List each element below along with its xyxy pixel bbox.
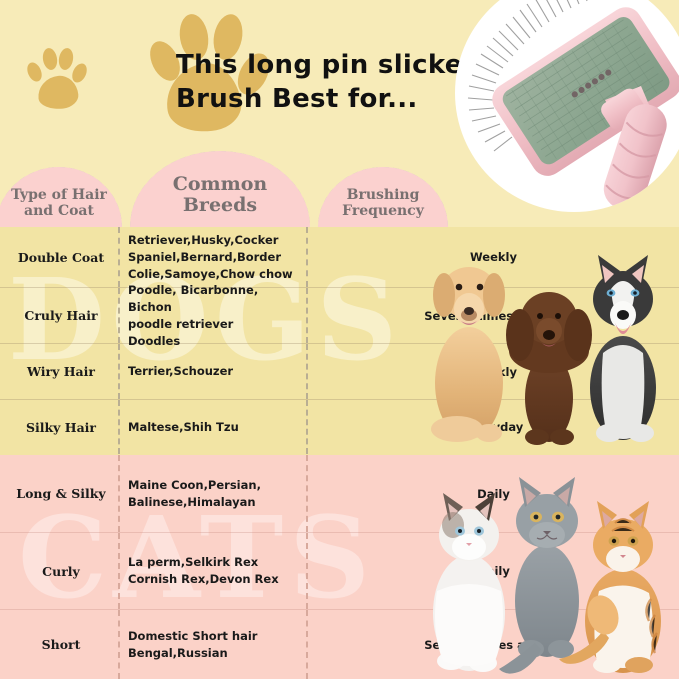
column-header-label: Type of Hair and Coat [11,174,107,219]
breeds-line: Bengal,Russian [128,645,300,662]
breeds-line: Terrier,Schouzer [128,363,300,380]
column-header-line1: Common [173,173,268,195]
column-header-brushing-frequency: Brushing Frequency [318,167,448,227]
cell-hair-type: Wiry Hair [0,364,118,379]
table-row: Silky Hair Maltese,Shih Tzu Everyday [0,399,679,454]
column-header-common-breeds: Common Breeds [130,151,310,227]
paw-print-icon [26,44,90,114]
breeds-line: Poodle, Bicarbonne, Bichon [128,282,300,316]
paw-toe [24,60,44,84]
frequency-text: Daily [401,487,587,501]
breeds-line: La perm,Selkirk Rex [128,554,300,571]
cell-hair-type: Double Coat [0,250,118,265]
column-header-label: Brushing Frequency [342,174,424,219]
cell-breeds: Maine Coon,Persian, Balinese,Himalayan [118,455,306,532]
column-header-type-of-hair: Type of Hair and Coat [0,167,122,227]
grooming-infographic: This long pin slicker Brush Best for... [0,0,679,679]
frequency-text: Several times a week [401,309,587,323]
cell-breeds: Poodle, Bicarbonne, Bichon poodle retrie… [118,288,306,343]
cell-hair-type: Curly [0,564,118,579]
cell-hair-type: Long & Silky [0,486,118,501]
frequency-text: Everyday [401,420,587,434]
header-banner: This long pin slicker Brush Best for... [0,0,679,160]
section-dogs: DOGS [0,227,679,455]
breeds-line: Retriever,Husky,Cocker [128,232,300,249]
breeds-line: Domestic Short hair [128,628,300,645]
column-header-label: Common Breeds [173,162,268,217]
breeds-line: Spaniel,Bernard,Border [128,249,300,266]
cell-frequency: Daily [306,533,679,609]
column-header-line1: Brushing [347,187,420,203]
column-header-line2: and Coat [24,203,94,219]
frequency-text: Weekly [401,365,587,379]
table-column-headers: Type of Hair and Coat Common Breeds Brus… [0,152,679,227]
cell-breeds: Retriever,Husky,Cocker Spaniel,Bernard,B… [118,227,306,287]
cell-breeds: Terrier,Schouzer [118,344,306,399]
table-row: Curly La perm,Selkirk Rex Cornish Rex,De… [0,532,679,609]
paw-toe [41,47,59,71]
cell-frequency: Everyday [306,400,679,454]
breeds-line: Cornish Rex,Devon Rex [128,571,300,588]
frequency-text: Several times a week [401,638,587,652]
column-header-line2: Frequency [342,203,424,219]
cell-frequency: Weekly [306,344,679,399]
breeds-line: Maine Coon,Persian, [128,477,300,494]
table-row: Short Domestic Short hair Bengal,Russian… [0,609,679,679]
cell-breeds: La perm,Selkirk Rex Cornish Rex,Devon Re… [118,533,306,609]
cell-breeds: Domestic Short hair Bengal,Russian [118,610,306,679]
section-cats: CATS [0,455,679,679]
frequency-text: Daily [401,564,587,578]
breeds-line: poodle retriever [128,316,300,333]
cell-frequency: Several times a week [306,288,679,343]
cell-hair-type: Silky Hair [0,420,118,435]
cell-breeds: Maltese,Shih Tzu [118,400,306,454]
cell-hair-type: Short [0,637,118,652]
cell-frequency: Weekly [306,227,679,287]
cell-frequency: Several times a week [306,610,679,679]
column-header-line1: Type of Hair [11,187,107,203]
table-row: Wiry Hair Terrier,Schouzer Weekly [0,343,679,399]
breeds-line: Balinese,Himalayan [128,494,300,511]
cell-hair-type: Cruly Hair [0,308,118,323]
grooming-table: DOGS [0,227,679,679]
frequency-text: Weekly [401,250,587,264]
table-row: Double Coat Retriever,Husky,Cocker Spani… [0,227,679,287]
breeds-line: Maltese,Shih Tzu [128,419,300,436]
headline-text: This long pin slicker Brush Best for... [176,48,486,116]
cell-frequency: Daily [306,455,679,532]
paw-toe [57,47,75,71]
table-row: Cruly Hair Poodle, Bicarbonne, Bichon po… [0,287,679,343]
column-header-line2: Breeds [183,194,257,216]
breeds-line: Colie,Samoye,Chow chow [128,266,300,283]
table-row: Long & Silky Maine Coon,Persian, Balines… [0,455,679,532]
